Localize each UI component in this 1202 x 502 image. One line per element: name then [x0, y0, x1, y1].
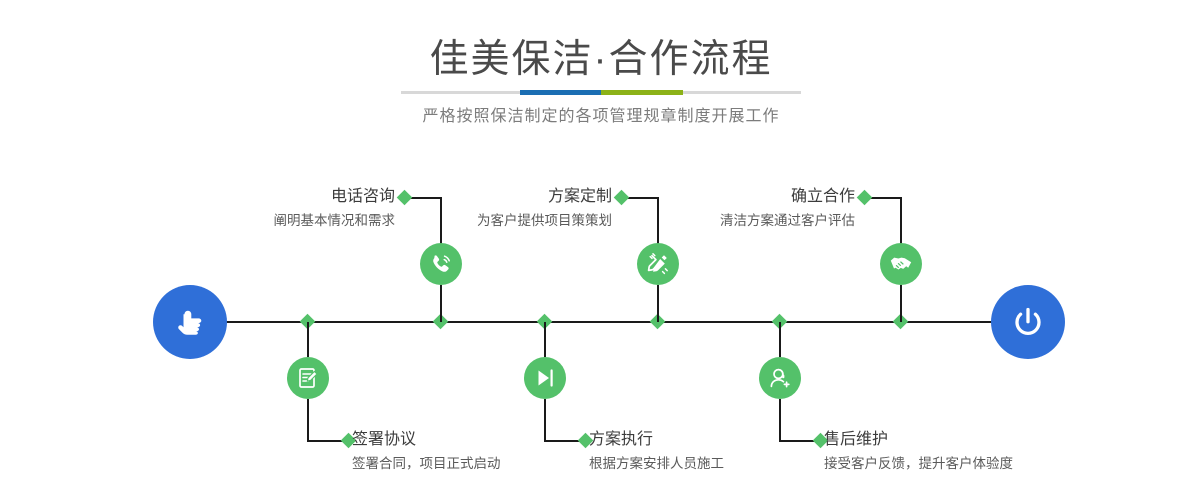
page-subtitle: 严格按照保洁制定的各项管理规章制度开展工作: [0, 105, 1202, 129]
step-3-label: 方案定制 为客户提供项目策策划: [365, 186, 612, 231]
play-execute-icon: [532, 365, 558, 391]
step-6-name: 售后维护: [824, 429, 1124, 451]
divider-green-segment: [601, 90, 683, 95]
power-icon: [1008, 302, 1048, 342]
step-1-label: 电话咨询 阐明基本情况和需求: [145, 186, 395, 231]
step-4-icon-node: [524, 357, 566, 399]
customer-service-icon: [767, 365, 793, 391]
flow-diagram-canvas: 佳美保洁·合作流程 严格按照保洁制定的各项管理规章制度开展工作: [0, 0, 1202, 502]
step-2-stem-lower: [307, 399, 309, 441]
step-3-desc: 为客户提供项目策策划: [365, 211, 612, 231]
step-4-connector: [544, 440, 582, 442]
pencil-ruler-icon: [645, 251, 671, 277]
step-5-label-marker: [857, 190, 873, 206]
step-2-icon-node: [287, 357, 329, 399]
page-title: 佳美保洁·合作流程: [0, 36, 1202, 84]
step-3-icon-node: [637, 243, 679, 285]
step-1-stem-lower: [440, 285, 442, 322]
step-1-desc: 阐明基本情况和需求: [145, 211, 395, 231]
step-2-label: 签署协议 签署合同，项目正式启动: [352, 429, 612, 474]
step-5-stem-lower: [900, 285, 902, 322]
step-5-desc: 清洁方案通过客户评估: [608, 211, 855, 231]
divider-blue-segment: [520, 90, 601, 95]
step-1-name: 电话咨询: [145, 186, 395, 208]
step-4-stem-lower: [544, 399, 546, 441]
step-5-label: 确立合作 清洁方案通过客户评估: [608, 186, 855, 231]
step-4-desc: 根据方案安排人员施工: [589, 454, 859, 474]
phone-call-icon: [428, 251, 454, 277]
pointing-hand-icon: [170, 302, 210, 342]
step-3-stem-lower: [657, 285, 659, 322]
step-5-stem-upper: [900, 197, 902, 247]
step-5-icon-node: [880, 243, 922, 285]
step-6-stem-upper: [779, 322, 781, 357]
step-3-name: 方案定制: [365, 186, 612, 208]
title-divider: [401, 91, 801, 94]
step-6-label: 售后维护 接受客户反馈，提升客户体验度: [824, 429, 1124, 474]
document-pen-icon: [295, 365, 321, 391]
handshake-icon: [888, 251, 914, 277]
step-2-desc: 签署合同，项目正式启动: [352, 454, 612, 474]
timeline-start-node: [153, 285, 227, 359]
step-5-name: 确立合作: [608, 186, 855, 208]
step-6-connector: [779, 440, 817, 442]
step-1-icon-node: [420, 243, 462, 285]
step-6-stem-lower: [779, 399, 781, 441]
step-2-connector: [307, 440, 345, 442]
timeline-end-node: [991, 285, 1065, 359]
step-2-stem-upper: [307, 322, 309, 357]
step-6-desc: 接受客户反馈，提升客户体验度: [824, 454, 1124, 474]
step-4-stem-upper: [544, 322, 546, 357]
step-6-icon-node: [759, 357, 801, 399]
